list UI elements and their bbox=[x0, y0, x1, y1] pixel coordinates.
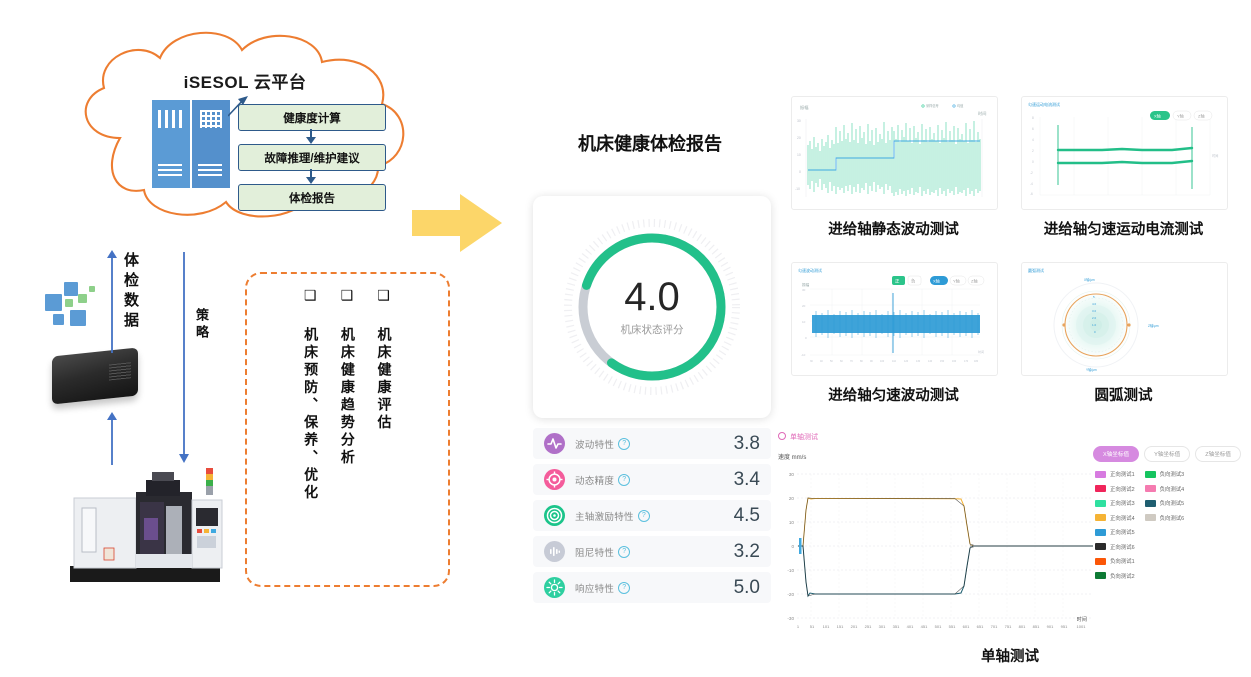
svg-text:170: 170 bbox=[964, 360, 969, 363]
svg-text:-4: -4 bbox=[1030, 182, 1033, 186]
metric-value: 5.0 bbox=[734, 577, 760, 599]
svg-text:-10: -10 bbox=[801, 353, 806, 357]
legend-label: 负向测试2 bbox=[1110, 572, 1135, 580]
outcome-item: ❑ 机床健康评估 bbox=[377, 288, 392, 585]
svg-text:951: 951 bbox=[1061, 624, 1068, 629]
svg-text:140: 140 bbox=[928, 360, 933, 363]
svg-text:51: 51 bbox=[810, 624, 815, 629]
svg-text:0: 0 bbox=[791, 544, 794, 549]
tab-y-axis[interactable]: Y轴坐标值 bbox=[1144, 446, 1190, 462]
svg-text:30: 30 bbox=[802, 288, 806, 292]
svg-text:-10: -10 bbox=[787, 568, 794, 573]
svg-text:150: 150 bbox=[940, 360, 945, 363]
help-icon[interactable]: ? bbox=[618, 582, 630, 594]
metric-value: 3.8 bbox=[734, 433, 760, 455]
help-icon[interactable]: ? bbox=[618, 438, 630, 450]
svg-text:Y轴/μm: Y轴/μm bbox=[1086, 367, 1097, 372]
tab-x-axis[interactable]: X轴坐标值 bbox=[1093, 446, 1139, 462]
help-icon[interactable]: ? bbox=[618, 546, 630, 558]
legend-swatch bbox=[1095, 514, 1106, 521]
svg-text:401: 401 bbox=[907, 624, 914, 629]
metric-row-spindle-excitation[interactable]: 主轴激励特性 ? 4.5 bbox=[533, 500, 771, 531]
chart-card-speed-fluctuation[interactable]: 匀速波动测试 振幅 302010 0-10 bbox=[791, 262, 998, 376]
svg-text:Z轴: Z轴 bbox=[971, 278, 977, 284]
legend-column-positive: 正向测试1 正向测试2 正向测试3 正向测试4 正向测试5 正向测试6 负向测试… bbox=[1095, 470, 1135, 580]
flow-step-report[interactable]: 体检报告 bbox=[238, 184, 386, 211]
svg-text:Z轴/μm: Z轴/μm bbox=[1148, 323, 1159, 328]
svg-text:振幅: 振幅 bbox=[800, 104, 808, 111]
legend-swatch bbox=[1095, 529, 1106, 536]
svg-text:6: 6 bbox=[1032, 127, 1034, 131]
svg-text:3.0: 3.0 bbox=[1092, 309, 1097, 313]
svg-text:2.0: 2.0 bbox=[1092, 316, 1097, 320]
single-axis-legend: 正向测试1 正向测试2 正向测试3 正向测试4 正向测试5 正向测试6 负向测试… bbox=[1095, 470, 1245, 580]
legend-column-negative: 负向测试3 负向测试4 负向测试5 负向测试6 bbox=[1145, 470, 1185, 580]
svg-text:Y轴: Y轴 bbox=[1177, 113, 1184, 119]
svg-text:X轴: X轴 bbox=[933, 278, 940, 284]
svg-text:110: 110 bbox=[892, 360, 897, 363]
legend-swatch bbox=[1095, 471, 1106, 478]
single-axis-test-panel[interactable]: 单轴测试 速度 mm/s X轴坐标值 Y轴坐标值 Z轴坐标值 3 bbox=[775, 432, 1245, 637]
svg-text:匀速波动测试: 匀速波动测试 bbox=[798, 267, 822, 273]
metric-label: 主轴激励特性 bbox=[575, 509, 634, 523]
metric-row-damping[interactable]: 阻尼特性 ? 3.2 bbox=[533, 536, 771, 567]
legend-label: 正向测试1 bbox=[1110, 470, 1135, 478]
flow-step-fault-inference[interactable]: 故障推理/维护建议 bbox=[238, 144, 386, 171]
metric-value: 3.2 bbox=[734, 541, 760, 563]
svg-text:1001: 1001 bbox=[1077, 624, 1087, 629]
legend-label: 负向测试5 bbox=[1160, 499, 1185, 507]
svg-text:901: 901 bbox=[1047, 624, 1054, 629]
svg-text:101: 101 bbox=[823, 624, 830, 629]
svg-text:-20: -20 bbox=[787, 592, 794, 597]
svg-text:4.0: 4.0 bbox=[1092, 302, 1097, 306]
target-icon bbox=[544, 469, 565, 490]
legend-label: 正向测试4 bbox=[1110, 514, 1135, 522]
help-icon[interactable]: ? bbox=[618, 474, 630, 486]
svg-text:10: 10 bbox=[797, 153, 801, 157]
legend-swatch bbox=[1095, 485, 1106, 492]
transition-arrow-icon bbox=[412, 192, 504, 254]
legend-label: 负向测试3 bbox=[1160, 470, 1185, 478]
svg-text:负: 负 bbox=[911, 278, 916, 285]
chart-caption-current: 进给轴匀速运动电流测试 bbox=[1021, 218, 1226, 239]
metric-label: 动态精度 bbox=[575, 473, 614, 487]
svg-text:-30: -30 bbox=[787, 616, 794, 621]
current-plot: 匀速运动电流测试 864 20-2 -4-6 时间 X轴 Y轴 bbox=[1022, 97, 1227, 209]
legend-item: 负向测试5 bbox=[1145, 499, 1185, 507]
legend-label: 正向测试3 bbox=[1110, 499, 1135, 507]
waveform-icon bbox=[544, 433, 565, 454]
data-flow-label: 体检数据 bbox=[120, 252, 141, 332]
svg-text:X轴: X轴 bbox=[1154, 113, 1161, 119]
svg-text:时间: 时间 bbox=[1212, 153, 1218, 158]
chart-caption-single-axis: 单轴测试 bbox=[880, 645, 1140, 666]
svg-text:100: 100 bbox=[880, 360, 885, 363]
svg-text:90: 90 bbox=[870, 360, 873, 363]
legend-swatch bbox=[1145, 514, 1156, 521]
single-axis-header: 单轴测试 bbox=[778, 432, 818, 442]
svg-text:251: 251 bbox=[865, 624, 872, 629]
svg-text:圆弧测试: 圆弧测试 bbox=[1028, 267, 1044, 273]
svg-text:20: 20 bbox=[802, 304, 806, 308]
arc-test-polar-plot: 圆弧测试 54.03.0 2.01. bbox=[1022, 263, 1227, 375]
data-cluster-icon bbox=[45, 280, 107, 332]
legend-item: 负向测试6 bbox=[1145, 514, 1185, 522]
svg-text:601: 601 bbox=[963, 624, 970, 629]
svg-text:均值: 均值 bbox=[957, 103, 964, 108]
legend-item: 正向测试3 bbox=[1095, 499, 1135, 507]
legend-item: 负向测试3 bbox=[1145, 470, 1185, 478]
legend-label: 负向测试4 bbox=[1160, 485, 1185, 493]
metric-value: 3.4 bbox=[734, 469, 760, 491]
svg-text:180: 180 bbox=[974, 360, 979, 363]
legend-swatch bbox=[1145, 471, 1156, 478]
strategy-flow-label: 策略 bbox=[192, 308, 211, 342]
server-icon bbox=[152, 100, 230, 188]
legend-swatch bbox=[1095, 572, 1106, 579]
strategy-down-arrow-icon bbox=[177, 252, 191, 464]
chart-caption-arc-test: 圆弧测试 bbox=[1021, 384, 1226, 405]
svg-text:-2: -2 bbox=[1030, 171, 1033, 175]
legend-label: 负向测试6 bbox=[1160, 514, 1185, 522]
svg-text:采样信号: 采样信号 bbox=[926, 103, 939, 108]
svg-text:551: 551 bbox=[949, 624, 956, 629]
metric-label: 波动特性 bbox=[575, 437, 614, 451]
svg-text:351: 351 bbox=[893, 624, 900, 629]
svg-text:80: 80 bbox=[860, 360, 863, 363]
help-icon[interactable]: ? bbox=[638, 510, 650, 522]
svg-text:701: 701 bbox=[991, 624, 998, 629]
svg-text:60: 60 bbox=[840, 360, 843, 363]
legend-item: 负向测试1 bbox=[1095, 557, 1135, 565]
cnc-machine-illustration bbox=[60, 462, 235, 597]
flow-arrow-1-icon bbox=[304, 129, 318, 144]
legend-label: 正向测试6 bbox=[1110, 543, 1135, 551]
flow-step-health-calc[interactable]: 健康度计算 bbox=[238, 104, 386, 131]
svg-text:Y轴: Y轴 bbox=[953, 278, 960, 284]
chart-caption-speed-fluctuation: 进给轴匀速波动测试 bbox=[791, 384, 996, 405]
legend-label: 正向测试5 bbox=[1110, 528, 1135, 536]
speed-fluctuation-plot: 匀速波动测试 振幅 302010 0-10 bbox=[792, 263, 997, 375]
metric-row-dynamic-accuracy[interactable]: 动态精度 ? 3.4 bbox=[533, 464, 771, 495]
legend-item: 负向测试2 bbox=[1095, 572, 1135, 580]
flow-arrow-2-icon bbox=[304, 169, 318, 184]
svg-text:1.0: 1.0 bbox=[1092, 323, 1097, 327]
tab-z-axis[interactable]: Z轴坐标值 bbox=[1195, 446, 1241, 462]
svg-text:50: 50 bbox=[830, 360, 833, 363]
metric-row-fluctuation[interactable]: 波动特性 ? 3.8 bbox=[533, 428, 771, 459]
svg-text:30: 30 bbox=[797, 119, 801, 123]
single-axis-plot: 302010 0-10-20 -30 151101 151201251 3013… bbox=[775, 460, 1095, 632]
static-fluctuation-plot: 振幅 时间 302010 0-10 bbox=[792, 97, 997, 209]
rings-icon bbox=[544, 505, 565, 526]
legend-item: 正向测试1 bbox=[1095, 470, 1135, 478]
report-canvas: iSESOL 云平台 健康度计算 故障推理/维护建议 体检报告 bbox=[0, 0, 1251, 677]
svg-text:0: 0 bbox=[1032, 160, 1034, 164]
health-score-card: 4.0 机床状态评分 bbox=[533, 196, 771, 418]
metric-label: 响应特性 bbox=[575, 581, 614, 595]
svg-text:70: 70 bbox=[850, 360, 853, 363]
svg-text:301: 301 bbox=[879, 624, 886, 629]
legend-label: 正向测试2 bbox=[1110, 485, 1135, 493]
svg-text:10: 10 bbox=[802, 320, 806, 324]
svg-text:4: 4 bbox=[1032, 138, 1034, 142]
chart-card-static-fluctuation[interactable]: 振幅 时间 302010 0-10 bbox=[791, 96, 998, 210]
svg-text:时间: 时间 bbox=[978, 349, 984, 354]
svg-text:851: 851 bbox=[1033, 624, 1040, 629]
page-title: 机床健康体检报告 bbox=[520, 130, 780, 156]
legend-swatch bbox=[1095, 543, 1106, 550]
gauge-score-caption: 机床状态评分 bbox=[587, 322, 717, 337]
svg-text:Z轴: Z轴 bbox=[1198, 113, 1204, 119]
svg-text:匀速运动电流测试: 匀速运动电流测试 bbox=[1028, 101, 1060, 107]
record-icon bbox=[778, 432, 786, 440]
gauge-readout: 4.0 机床状态评分 bbox=[587, 277, 717, 337]
legend-item: 正向测试2 bbox=[1095, 485, 1135, 493]
outcome-item: ❑ 机床预防、保养、优化 bbox=[303, 288, 318, 585]
legend-item: 负向测试4 bbox=[1145, 485, 1185, 493]
svg-text:X轴/μm: X轴/μm bbox=[1084, 277, 1095, 282]
metric-value: 4.5 bbox=[734, 505, 760, 527]
chart-card-current[interactable]: 匀速运动电流测试 864 20-2 -4-6 时间 X轴 Y轴 bbox=[1021, 96, 1228, 210]
svg-text:160: 160 bbox=[952, 360, 957, 363]
legend-swatch bbox=[1095, 558, 1106, 565]
legend-item: 正向测试4 bbox=[1095, 514, 1135, 522]
svg-text:451: 451 bbox=[921, 624, 928, 629]
chart-card-arc-test[interactable]: 圆弧测试 54.03.0 2.01. bbox=[1021, 262, 1228, 376]
svg-text:801: 801 bbox=[1019, 624, 1026, 629]
damping-icon bbox=[544, 541, 565, 562]
svg-text:20: 20 bbox=[789, 496, 795, 501]
x-axis-label: 时间 bbox=[1077, 616, 1087, 623]
data-up-arrow-icon bbox=[105, 248, 119, 353]
svg-text:501: 501 bbox=[935, 624, 942, 629]
chart-caption-static-fluctuation: 进给轴静态波动测试 bbox=[791, 218, 996, 239]
legend-label: 负向测试1 bbox=[1110, 557, 1135, 565]
svg-text:10: 10 bbox=[789, 520, 795, 525]
svg-text:-6: -6 bbox=[1030, 192, 1033, 196]
svg-text:151: 151 bbox=[837, 624, 844, 629]
legend-item: 正向测试6 bbox=[1095, 543, 1135, 551]
svg-text:120: 120 bbox=[904, 360, 909, 363]
svg-text:651: 651 bbox=[977, 624, 984, 629]
edge-gateway-device bbox=[52, 347, 138, 404]
svg-text:130: 130 bbox=[916, 360, 921, 363]
gauge-score-value: 4.0 bbox=[587, 277, 717, 317]
cloud-platform-diagram: iSESOL 云平台 健康度计算 故障推理/维护建议 体检报告 bbox=[60, 18, 430, 233]
svg-text:201: 201 bbox=[851, 624, 858, 629]
outcomes-box: ❑ 机床健康评估 ❑ 机床健康趋势分析 ❑ 机床预防、保养、优化 bbox=[245, 272, 450, 587]
burst-icon bbox=[544, 577, 565, 598]
metrics-list: 波动特性 ? 3.8 动态精度 ? 3.4 bbox=[533, 428, 771, 608]
metric-row-response[interactable]: 响应特性 ? 5.0 bbox=[533, 572, 771, 603]
axis-tab-group[interactable]: X轴坐标值 Y轴坐标值 Z轴坐标值 bbox=[1093, 446, 1241, 462]
svg-text:正: 正 bbox=[895, 279, 900, 284]
svg-text:1: 1 bbox=[797, 624, 800, 629]
svg-text:30: 30 bbox=[789, 472, 795, 477]
metric-label: 阻尼特性 bbox=[575, 545, 614, 559]
svg-text:20: 20 bbox=[797, 136, 801, 140]
legend-swatch bbox=[1095, 500, 1106, 507]
svg-text:8: 8 bbox=[1032, 116, 1034, 120]
svg-text:40: 40 bbox=[820, 360, 823, 363]
svg-text:-10: -10 bbox=[795, 187, 800, 191]
legend-swatch bbox=[1145, 485, 1156, 492]
svg-text:振幅: 振幅 bbox=[802, 282, 810, 287]
svg-text:时间: 时间 bbox=[978, 110, 986, 117]
legend-swatch bbox=[1145, 500, 1156, 507]
svg-text:30: 30 bbox=[810, 360, 813, 363]
svg-text:2: 2 bbox=[1032, 149, 1034, 153]
outcome-item: ❑ 机床健康趋势分析 bbox=[340, 288, 355, 585]
svg-text:0: 0 bbox=[805, 336, 807, 340]
legend-item: 正向测试5 bbox=[1095, 528, 1135, 536]
device-up-arrow-icon bbox=[105, 410, 119, 465]
svg-text:0: 0 bbox=[799, 170, 801, 174]
svg-text:751: 751 bbox=[1005, 624, 1012, 629]
